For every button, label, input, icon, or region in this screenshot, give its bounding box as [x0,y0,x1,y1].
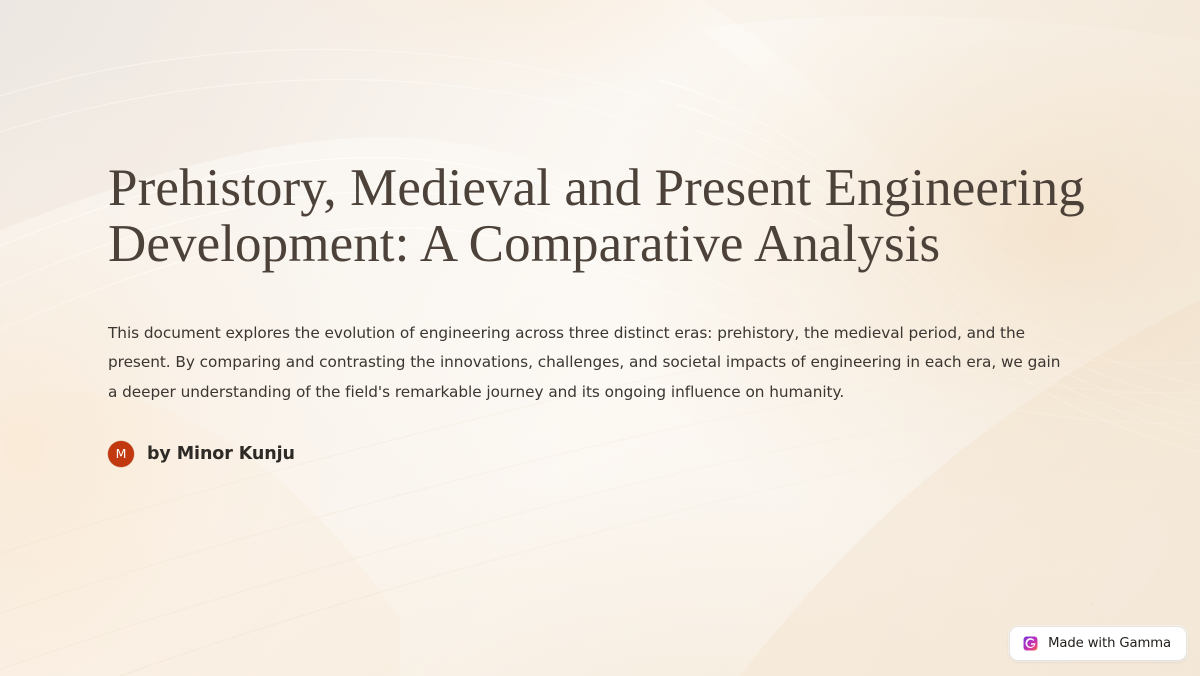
avatar: M [108,441,134,467]
made-with-gamma-badge[interactable]: Made with Gamma [1009,626,1187,661]
slide-content: Prehistory, Medieval and Present Enginee… [108,160,1108,467]
author-byline: M by Minor Kunju [108,441,1108,467]
title-slide: Prehistory, Medieval and Present Enginee… [0,0,1200,676]
gamma-badge-label: Made with Gamma [1048,636,1171,651]
slide-description: This document explores the evolution of … [108,319,1073,407]
gamma-logo-icon [1022,635,1039,652]
page-title: Prehistory, Medieval and Present Enginee… [108,160,1098,272]
author-name: by Minor Kunju [147,444,295,464]
